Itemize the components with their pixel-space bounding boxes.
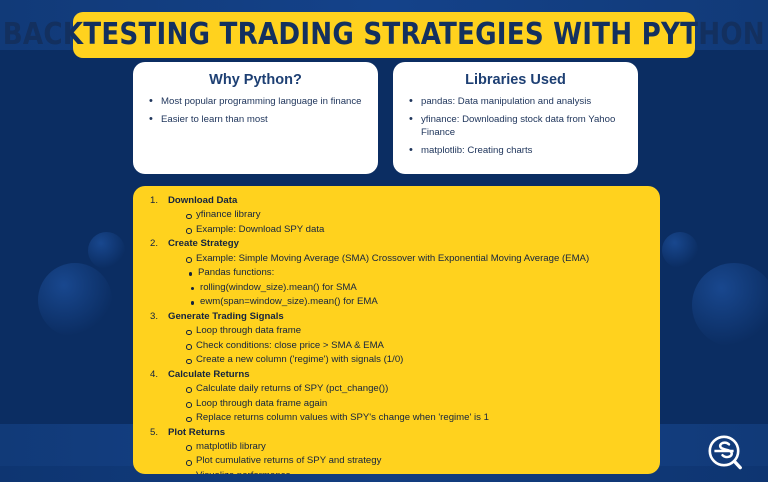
list-item: Create a new column ('regime') with sign… (184, 353, 648, 368)
step-item: Download Data yfinance library Example: … (147, 194, 648, 237)
card-title: Why Python? (147, 72, 364, 88)
list-item: matplotlib library (184, 440, 648, 455)
step-title: Create Strategy (168, 237, 648, 251)
list-item: matplotlib: Creating charts (407, 144, 624, 158)
step-title: Plot Returns (168, 426, 648, 440)
card-why-python: Why Python? Most popular programming lan… (133, 62, 378, 174)
step-sub-list: yfinance library Example: Download SPY d… (184, 208, 648, 237)
card-bullet-list: Most popular programming language in fin… (147, 95, 364, 126)
list-item: Pandas functions: (186, 266, 648, 281)
card-libraries-used: Libraries Used pandas: Data manipulation… (393, 62, 638, 174)
step-title: Download Data (168, 194, 648, 208)
card-title: Libraries Used (407, 72, 624, 88)
decorative-circle-right-small (662, 232, 698, 268)
steps-list: Download Data yfinance library Example: … (147, 194, 648, 474)
step-item: Create Strategy Example: Simple Moving A… (147, 237, 648, 310)
step-item: Plot Returns matplotlib library Plot cum… (147, 426, 648, 474)
list-item: rolling(window_size).mean() for SMA (188, 281, 648, 296)
list-item: Calculate daily returns of SPY (pct_chan… (184, 382, 648, 397)
step-item: Calculate Returns Calculate daily return… (147, 368, 648, 426)
list-item: Loop through data frame again (184, 397, 648, 412)
steps-panel: Download Data yfinance library Example: … (133, 186, 660, 474)
card-bullet-list: pandas: Data manipulation and analysis y… (407, 95, 624, 157)
step-sub-list: matplotlib library Plot cumulative retur… (184, 440, 648, 474)
list-item: Loop through data frame (184, 324, 648, 339)
title-banner: BACKTESTING TRADING STRATEGIES WITH PYTH… (73, 12, 695, 58)
list-item: yfinance: Downloading stock data from Ya… (407, 113, 624, 140)
decorative-circle-right-large (692, 263, 768, 347)
page-title: BACKTESTING TRADING STRATEGIES WITH PYTH… (3, 20, 765, 50)
step-sub-list-level2: Pandas functions: (186, 266, 648, 281)
step-sub-list: Loop through data frame Check conditions… (184, 324, 648, 368)
list-item: Replace returns column values with SPY's… (184, 411, 648, 426)
step-sub-list: Calculate daily returns of SPY (pct_chan… (184, 382, 648, 426)
step-item: Generate Trading Signals Loop through da… (147, 310, 648, 368)
step-sub-list: Example: Simple Moving Average (SMA) Cro… (184, 252, 648, 267)
list-item: Plot cumulative returns of SPY and strat… (184, 454, 648, 469)
decorative-circle-left-small (88, 232, 125, 269)
stock-search-logo-icon (705, 432, 747, 474)
list-item: ewm(span=window_size).mean() for EMA (188, 295, 648, 310)
step-sub-list-level3: rolling(window_size).mean() for SMA ewm(… (188, 281, 648, 310)
step-title: Generate Trading Signals (168, 310, 648, 324)
list-item: Most popular programming language in fin… (147, 95, 364, 109)
decorative-circle-left-large (38, 263, 112, 337)
list-item: Easier to learn than most (147, 113, 364, 127)
list-item: Visualize performance (184, 469, 648, 474)
list-item: Example: Simple Moving Average (SMA) Cro… (184, 252, 648, 267)
list-item: Check conditions: close price > SMA & EM… (184, 339, 648, 354)
list-item: pandas: Data manipulation and analysis (407, 95, 624, 109)
step-title: Calculate Returns (168, 368, 648, 382)
list-item: yfinance library (184, 208, 648, 223)
list-item: Example: Download SPY data (184, 223, 648, 238)
